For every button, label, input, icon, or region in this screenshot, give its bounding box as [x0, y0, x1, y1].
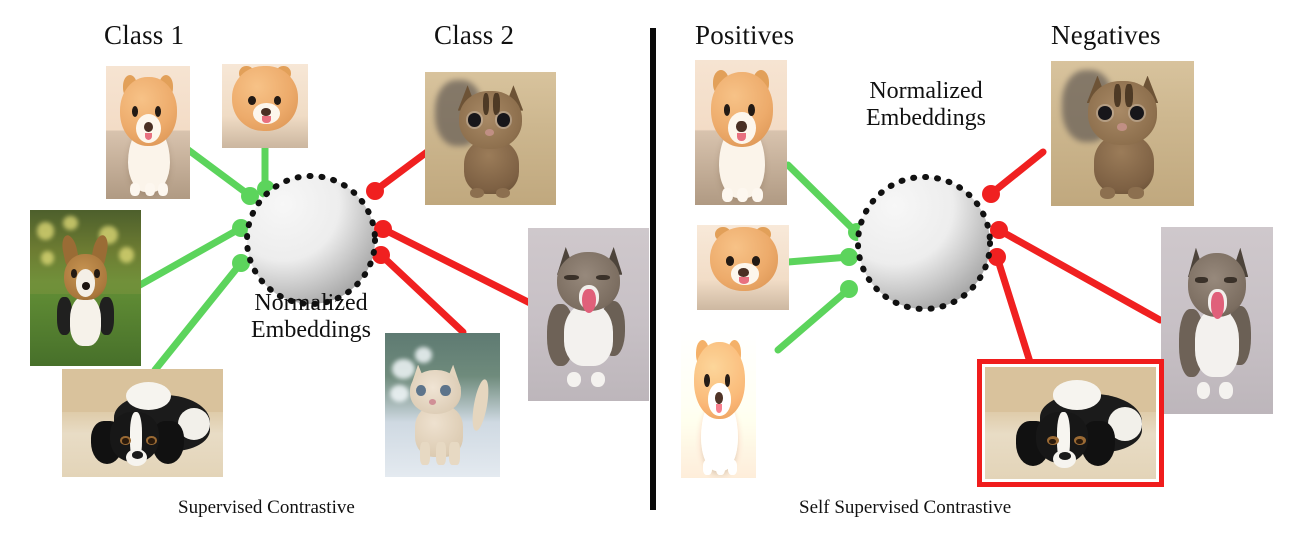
photo-art: [385, 333, 500, 477]
photo-art: [30, 210, 141, 366]
photo-art: [528, 228, 649, 401]
label-line-2: Embeddings: [811, 105, 1041, 132]
right-panel-caption: Self Supervised Contrastive: [799, 497, 1011, 519]
figure-canvas: Class 1 Class 2: [0, 0, 1297, 551]
normalized-embeddings-label-right: Normalized Embeddings: [811, 78, 1041, 132]
image-spaniel-dog-lying[interactable]: [62, 369, 223, 477]
negatives-header: Negatives: [1051, 20, 1161, 51]
image-brown-tabby-kitten[interactable]: [1051, 61, 1194, 206]
image-corgi-puppy-on-grass[interactable]: [30, 210, 141, 366]
photo-art: [106, 66, 190, 199]
photo-art: [1051, 61, 1194, 206]
photo-art: [697, 225, 789, 310]
photo-art: [222, 64, 308, 148]
supervised-contrastive-panel: Class 1 Class 2: [0, 0, 653, 551]
highlighted-photo-frame: [985, 367, 1156, 479]
image-grey-tabby-kitten-yawning[interactable]: [1161, 227, 1273, 414]
positives-header: Positives: [695, 20, 794, 51]
image-pomeranian-puppy-standing[interactable]: [106, 66, 190, 199]
label-line-1: Normalized: [811, 78, 1041, 105]
photo-art: [985, 367, 1156, 479]
image-pomeranian-puppy-closeup[interactable]: [697, 225, 789, 310]
label-line-2: Embeddings: [196, 317, 426, 344]
image-pomeranian-puppy-standing[interactable]: [695, 60, 787, 205]
image-pomeranian-puppy-augmented[interactable]: [681, 330, 756, 478]
photo-art: [681, 330, 756, 478]
photo-art: [425, 72, 556, 205]
class-2-header: Class 2: [434, 20, 514, 51]
photo-art: [62, 369, 223, 477]
photo-art: [695, 60, 787, 205]
label-line-1: Normalized: [196, 290, 426, 317]
self-supervised-contrastive-panel: Positives Negatives: [653, 0, 1297, 551]
photo-art: [1161, 227, 1273, 414]
class-1-header: Class 1: [104, 20, 184, 51]
image-cream-kitten-standing[interactable]: [385, 333, 500, 477]
normalized-embeddings-label-left: Normalized Embeddings: [196, 290, 426, 344]
image-spaniel-dog-lying-highlighted[interactable]: [977, 359, 1164, 487]
left-panel-caption: Supervised Contrastive: [178, 497, 355, 519]
image-grey-tabby-kitten-yawning[interactable]: [528, 228, 649, 401]
image-brown-tabby-kitten[interactable]: [425, 72, 556, 205]
image-pomeranian-puppy-closeup[interactable]: [222, 64, 308, 148]
